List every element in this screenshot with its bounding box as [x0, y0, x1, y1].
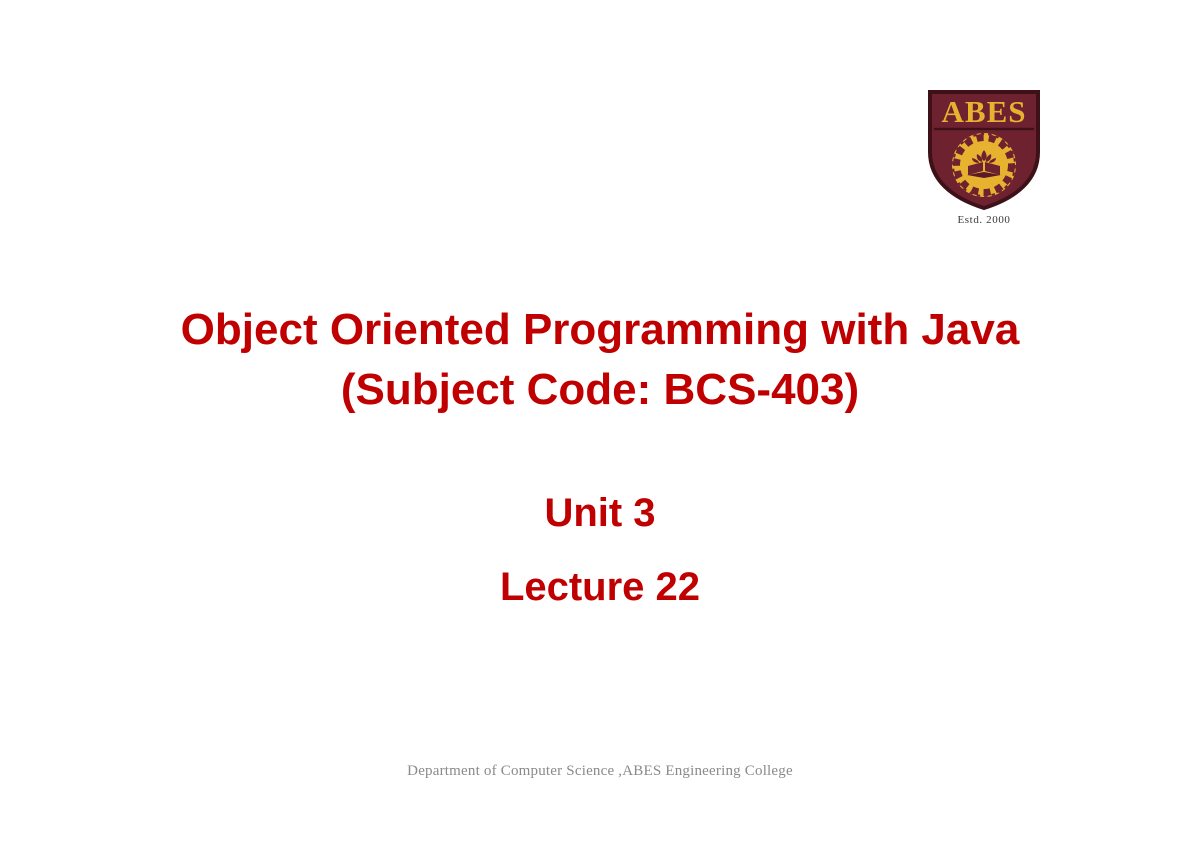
logo-established-text: Estd. 2000	[920, 214, 1048, 226]
abes-logo: ABES Estd. 2000	[920, 88, 1048, 236]
presentation-slide: ABES Estd. 2000 Object Oriented Programm…	[0, 0, 1200, 849]
title-line-2: (Subject Code: BCS-403)	[0, 360, 1200, 420]
page-title: Object Oriented Programming with Java (S…	[0, 300, 1200, 420]
unit-label: Unit 3	[0, 487, 1200, 539]
lecture-label: Lecture 22	[0, 561, 1200, 613]
svg-text:ABES: ABES	[942, 94, 1027, 129]
shield-icon: ABES	[924, 88, 1044, 212]
title-line-1: Object Oriented Programming with Java	[0, 300, 1200, 360]
slide-footer: Department of Computer Science ,ABES Eng…	[0, 763, 1200, 780]
